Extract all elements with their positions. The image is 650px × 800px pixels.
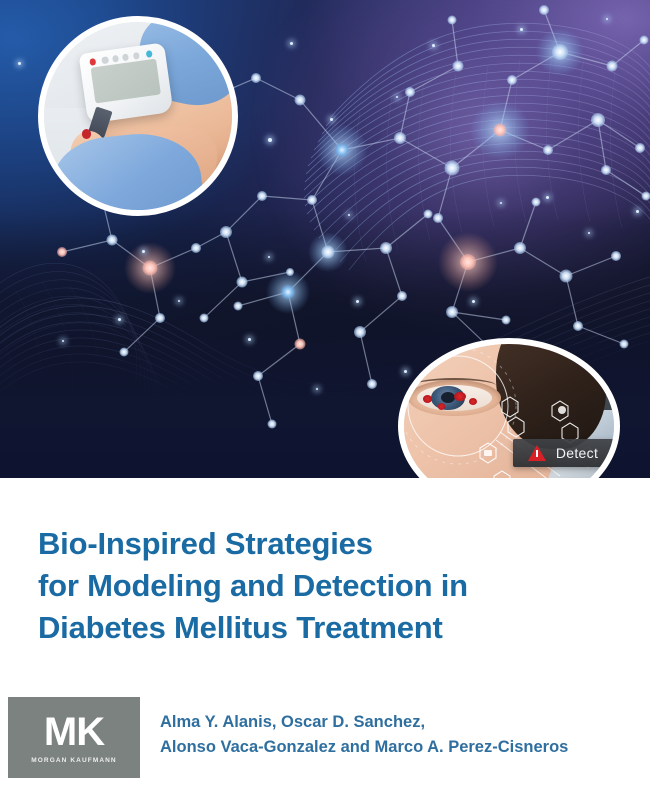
author-list: Alma Y. Alanis, Oscar D. Sanchez, Alonso… xyxy=(160,710,640,760)
author-line-1: Alma Y. Alanis, Oscar D. Sanchez, xyxy=(160,710,640,735)
cover-artwork: Detect xyxy=(0,0,650,478)
detect-badge: Detect xyxy=(513,439,614,467)
cover-text-panel: Bio-Inspired Strategies for Modeling and… xyxy=(0,478,650,800)
book-title: Bio-Inspired Strategies for Modeling and… xyxy=(38,523,618,649)
title-line-1: Bio-Inspired Strategies xyxy=(38,523,618,565)
detect-label: Detect xyxy=(556,445,598,461)
publisher-logo: MK MORGAN KAUFMANN xyxy=(8,697,140,778)
mk-monogram: MK xyxy=(44,712,104,752)
warning-triangle-icon xyxy=(528,445,546,461)
title-line-3: Diabetes Mellitus Treatment xyxy=(38,607,618,649)
title-line-2: for Modeling and Detection in xyxy=(38,565,618,607)
publisher-name: MORGAN KAUFMANN xyxy=(31,757,116,764)
glucose-meter-photo xyxy=(38,16,238,216)
author-line-2: Alonso Vaca-Gonzalez and Marco A. Perez-… xyxy=(160,735,640,760)
glucometer-device-icon xyxy=(79,43,174,124)
book-cover: Detect Bio-Inspired Strategies for Model… xyxy=(0,0,650,800)
eye-detection-photo: Detect xyxy=(398,338,620,478)
